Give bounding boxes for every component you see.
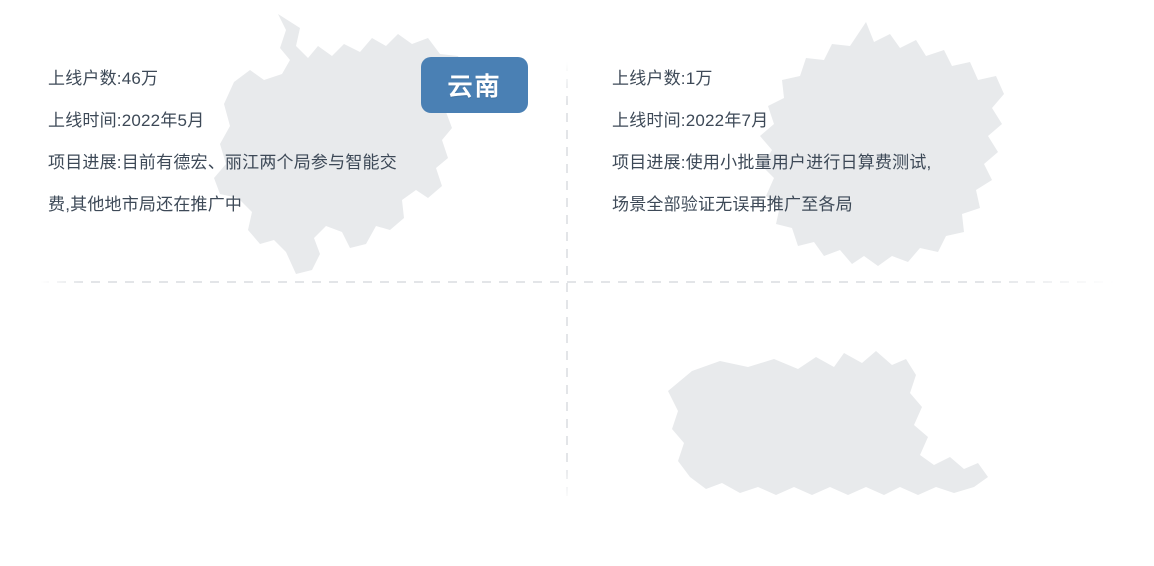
quadrant-shenzhen: 上线户数:20万 上线时间:2022年4月 项目进展:后续逐步将全深圳费控用户全… (568, 283, 1154, 566)
yunnan-line-1: 上线户数:46万 (48, 58, 397, 100)
guizhou-line-1: 上线户数:1万 (612, 58, 931, 100)
guizhou-line-4: 场景全部验证无误再推广至各局 (612, 184, 931, 226)
quadrant-hainan: 上线时间:待定 项目进展:目前海南仍处于双轨阶段,使用全省 数据进行测试比对,数… (0, 283, 566, 566)
yunnan-line-3: 项目进展:目前有德宏、丽江两个局参与智能交 (48, 142, 397, 184)
shenzhen-city-map-icon (648, 345, 998, 527)
yunnan-line-4: 费,其他地市局还在推广中 (48, 184, 397, 226)
yunnan-line-2: 上线时间:2022年5月 (48, 100, 397, 142)
province-progress-board: 上线户数:46万 上线时间:2022年5月 项目进展:目前有德宏、丽江两个局参与… (0, 0, 1154, 566)
quadrant-guizhou: 上线户数:1万 上线时间:2022年7月 项目进展:使用小批量用户进行日算费测试… (568, 0, 1154, 281)
guizhou-line-2: 上线时间:2022年7月 (612, 100, 931, 142)
yunnan-detail-text: 上线户数:46万 上线时间:2022年5月 项目进展:目前有德宏、丽江两个局参与… (48, 58, 397, 226)
guizhou-line-3: 项目进展:使用小批量用户进行日算费测试, (612, 142, 931, 184)
badge-yunnan[interactable]: 云南 (421, 57, 528, 113)
quadrant-yunnan: 上线户数:46万 上线时间:2022年5月 项目进展:目前有德宏、丽江两个局参与… (0, 0, 566, 281)
guizhou-detail-text: 上线户数:1万 上线时间:2022年7月 项目进展:使用小批量用户进行日算费测试… (612, 58, 931, 226)
